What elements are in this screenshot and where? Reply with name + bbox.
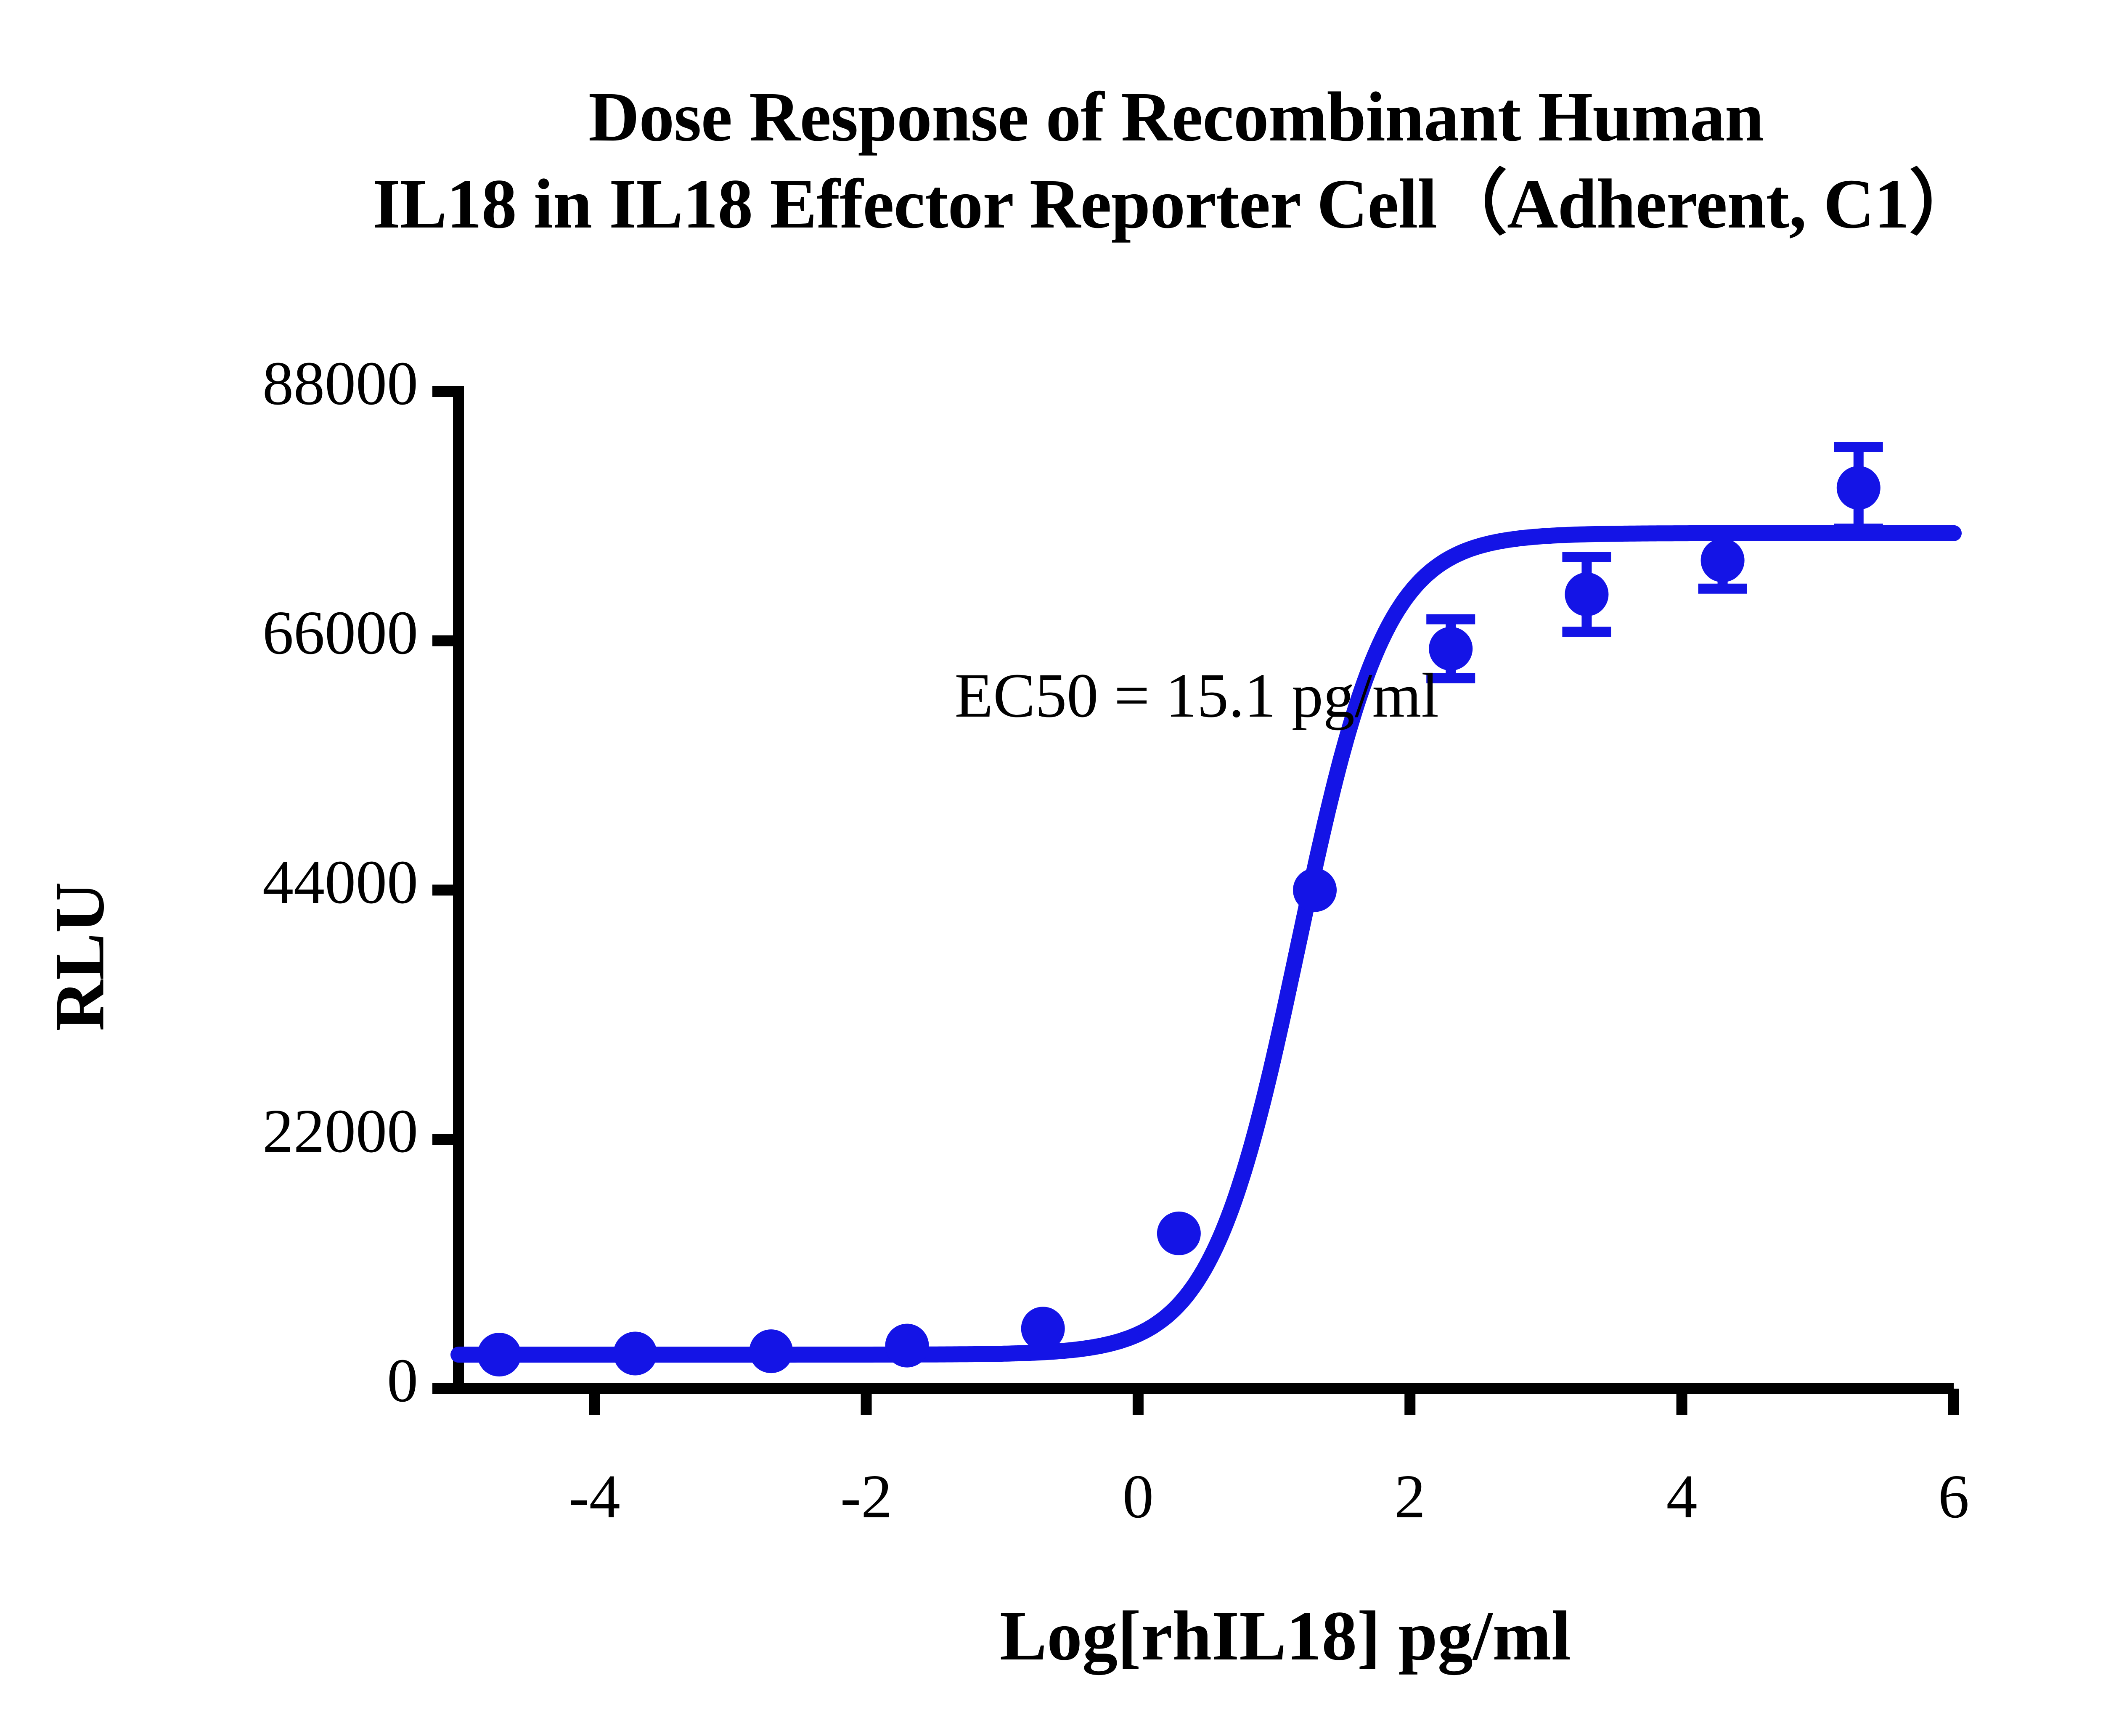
ec50-annotation: EC50 = 15.1 pg/ml [955,659,1439,732]
x-tick-label: -2 [782,1461,951,1532]
figure-canvas: Dose Response of Recombinant Human IL18 … [0,0,2103,1736]
fit-curve [458,533,1954,1355]
data-point-marker[interactable] [1701,538,1745,582]
data-point-marker[interactable] [477,1333,521,1376]
data-point-marker[interactable] [1157,1212,1201,1255]
x-tick-label: 4 [1598,1461,1766,1532]
data-point-marker[interactable] [1293,868,1337,912]
x-axis-title: Log[rhIL18] pg/ml [0,1596,2103,1677]
data-point-marker[interactable] [1565,572,1608,616]
y-tick-label: 88000 [262,348,418,419]
y-tick-label: 66000 [262,597,418,669]
x-tick-label: 2 [1326,1461,1494,1532]
x-tick-label: 6 [1870,1461,2038,1532]
y-tick-label: 22000 [262,1096,418,1167]
data-point-marker[interactable] [749,1329,793,1373]
y-tick-label: 44000 [262,847,418,918]
y-axis-title: RLU [40,704,121,1209]
error-bar-group [1426,447,1883,678]
data-point-marker[interactable] [885,1324,929,1368]
fit-curve-group [458,533,1954,1355]
x-tick-label: 0 [1054,1461,1222,1532]
data-point-marker[interactable] [1837,466,1881,510]
data-point-group [477,466,1881,1376]
data-point-marker[interactable] [1021,1307,1065,1350]
data-point-marker[interactable] [613,1331,657,1375]
y-tick-label: 0 [387,1345,418,1416]
x-tick-label: -4 [510,1461,678,1532]
